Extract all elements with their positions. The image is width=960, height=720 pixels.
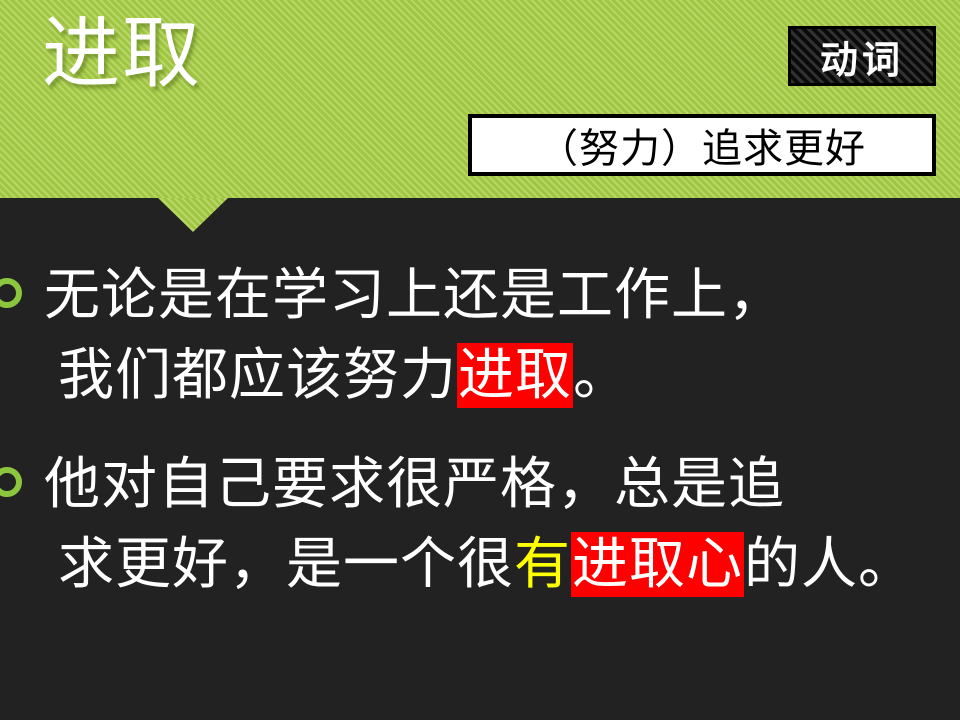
example-line: 他对自己要求很严格，总是追 xyxy=(44,445,960,525)
keyword-highlight-yellow: 有 xyxy=(514,532,571,597)
page-title: 进取 xyxy=(42,14,202,96)
example-text-plain: 求更好，是一个很 xyxy=(58,532,514,597)
list-item: 无论是在学习上还是工作上， 我们都应该努力进取。 xyxy=(0,256,960,415)
example-line: 无论是在学习上还是工作上， xyxy=(44,256,960,336)
definition-box: （努力）追求更好 xyxy=(468,114,936,176)
list-item: 他对自己要求很严格，总是追 求更好，是一个很有进取心的人。 xyxy=(0,445,960,604)
keyword-highlight-red: 进取 xyxy=(457,343,573,408)
part-of-speech-badge: 动词 xyxy=(788,26,936,86)
circle-outline-bullet-icon xyxy=(0,278,22,308)
example-text-plain: 我们都应该努力 xyxy=(58,343,457,408)
example-line: 求更好，是一个很有进取心的人。 xyxy=(44,525,960,605)
speech-bubble-tail-icon xyxy=(158,198,228,232)
examples-list: 无论是在学习上还是工作上， 我们都应该努力进取。 他对自己要求很严格，总是追 求… xyxy=(0,256,960,634)
slide-canvas: 进取 动词 （努力）追求更好 无论是在学习上还是工作上， 我们都应该努力进取。 … xyxy=(0,0,960,720)
example-text-plain: 。 xyxy=(573,343,630,408)
part-of-speech-label: 动词 xyxy=(820,29,904,84)
definition-text: （努力）追求更好 xyxy=(538,116,866,174)
keyword-highlight-red: 进取心 xyxy=(571,532,744,597)
example-text-plain: 的人。 xyxy=(744,532,915,597)
circle-outline-bullet-icon xyxy=(0,467,22,497)
example-line: 我们都应该努力进取。 xyxy=(44,336,960,416)
